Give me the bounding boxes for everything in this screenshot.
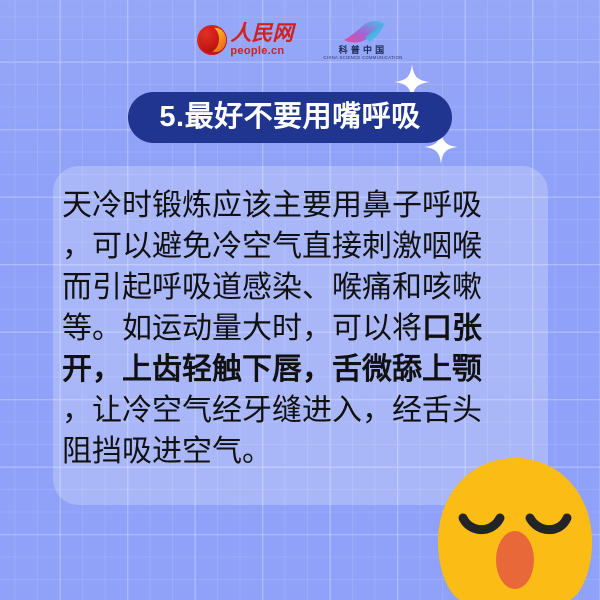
title-banner: 5.最好不要用嘴呼吸 bbox=[128, 92, 452, 143]
body-text-segment: 天冷时锻炼应该主要用鼻子呼吸 bbox=[62, 188, 482, 223]
people-cn-logo: 人民网 people.cn bbox=[197, 23, 293, 57]
body-text-segment: 阻挡吸进空气。 bbox=[62, 434, 272, 469]
body-text-segment: 等。如运动量大时，可以将 bbox=[62, 311, 422, 346]
body-text-segment: 而引起呼吸道感染、喉痛和咳嗽 bbox=[62, 270, 482, 305]
people-cn-logo-cn-text: 人民网 bbox=[230, 23, 293, 44]
page-title: 5.最好不要用嘴呼吸 bbox=[159, 103, 420, 132]
header-logo-row: 人民网 people.cn 科普中国 bbox=[0, 16, 600, 64]
body-text-line: 而引起呼吸道感染、喉痛和咳嗽 bbox=[62, 267, 542, 308]
body-text-emphasis: 开，上齿轻触下唇，舌微舔上颚 bbox=[62, 352, 482, 387]
blowing-face-emoji bbox=[430, 456, 600, 600]
body-text-segment: ，可以避免冷空气直接刺激咽喉 bbox=[62, 229, 482, 264]
body-text-line: 天冷时锻炼应该主要用鼻子呼吸 bbox=[62, 185, 542, 226]
body-text-segment: ，让冷空气经牙缝进入，经舌头 bbox=[62, 393, 482, 428]
body-text-emphasis: 口张 bbox=[422, 311, 482, 346]
poster-canvas: 人民网 people.cn 科普中国 bbox=[0, 0, 600, 600]
body-text-line: ，让冷空气经牙缝进入，经舌头 bbox=[62, 390, 542, 431]
kepu-china-logo: 科普中国 CHINA SCIENCE COMMUNICATION bbox=[323, 20, 402, 60]
kepu-china-logo-cn-text: 科普中国 bbox=[339, 46, 388, 55]
people-cn-logo-en-text: people.cn bbox=[230, 46, 284, 57]
people-cn-logo-text: 人民网 people.cn bbox=[230, 23, 293, 57]
people-cn-swirl-icon bbox=[197, 25, 227, 55]
body-text-block: 天冷时锻炼应该主要用鼻子呼吸，可以避免冷空气直接刺激咽喉而引起呼吸道感染、喉痛和… bbox=[62, 185, 542, 472]
body-text-line: ，可以避免冷空气直接刺激咽喉 bbox=[62, 226, 542, 267]
body-text-line: 开，上齿轻触下唇，舌微舔上颚 bbox=[62, 349, 542, 390]
kepu-china-logo-en-text: CHINA SCIENCE COMMUNICATION bbox=[323, 56, 402, 61]
kepu-china-wing-icon bbox=[339, 20, 387, 44]
body-text-line: 等。如运动量大时，可以将口张 bbox=[62, 308, 542, 349]
